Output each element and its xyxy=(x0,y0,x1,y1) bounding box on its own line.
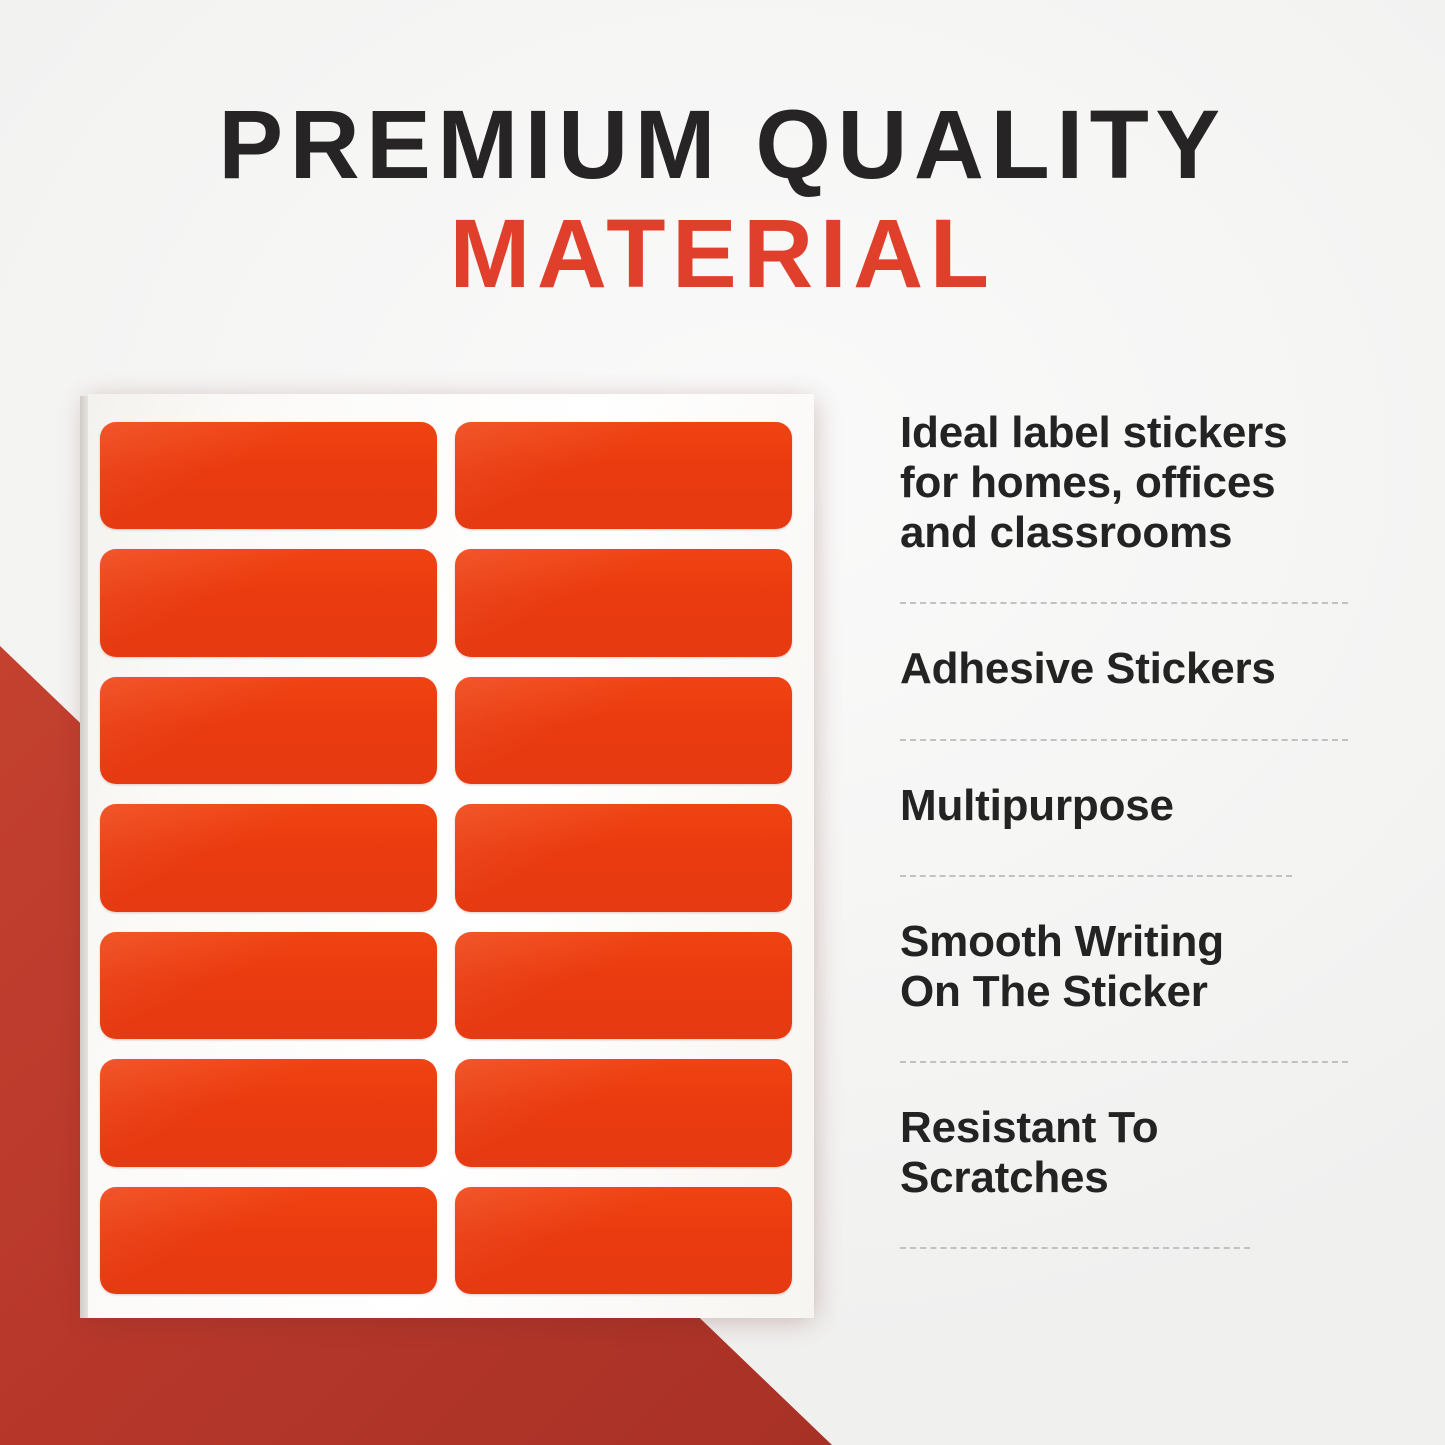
feature-label: Resistant To Scratches xyxy=(900,1103,1352,1203)
sticker-label xyxy=(100,549,437,656)
spacer xyxy=(900,1203,1352,1247)
sticker-label xyxy=(100,804,437,911)
sticker-label xyxy=(455,677,792,784)
feature-divider-4 xyxy=(900,1061,1348,1063)
feature-label: Multipurpose xyxy=(900,781,1352,831)
product-image-sticker-sheet xyxy=(80,394,814,1320)
feature-item-5: Resistant To Scratches xyxy=(900,1103,1352,1203)
sticker-label xyxy=(455,549,792,656)
spacer xyxy=(900,741,1352,781)
title-line-primary: PREMIUM QUALITY xyxy=(0,96,1445,193)
sticker-label xyxy=(100,1187,437,1294)
spacer xyxy=(900,695,1352,739)
feature-divider-2 xyxy=(900,739,1348,741)
sticker-label xyxy=(455,422,792,529)
spacer xyxy=(900,1063,1352,1103)
sticker-label xyxy=(100,422,437,529)
spacer xyxy=(900,558,1352,602)
infographic-canvas: PREMIUM QUALITY MATERIAL Ideal label sti… xyxy=(0,0,1445,1445)
page-title: PREMIUM QUALITY MATERIAL xyxy=(0,96,1445,302)
sticker-label xyxy=(455,1187,792,1294)
feature-item-1: Ideal label stickers for homes, offices … xyxy=(900,408,1352,558)
title-line-accent: MATERIAL xyxy=(0,205,1445,302)
feature-divider-1 xyxy=(900,602,1348,604)
sticker-label xyxy=(100,932,437,1039)
sticker-label xyxy=(455,932,792,1039)
sticker-label xyxy=(100,1059,437,1166)
feature-item-2: Adhesive Stickers xyxy=(900,644,1352,694)
feature-label: Ideal label stickers for homes, offices … xyxy=(900,408,1352,558)
feature-item-3: Multipurpose xyxy=(900,781,1352,831)
spacer xyxy=(900,604,1352,644)
feature-divider-3 xyxy=(900,875,1292,877)
sticker-sheet xyxy=(88,394,814,1318)
feature-divider-5 xyxy=(900,1247,1250,1249)
spacer xyxy=(900,831,1352,875)
feature-item-4: Smooth Writing On The Sticker xyxy=(900,917,1352,1017)
feature-list: Ideal label stickers for homes, offices … xyxy=(900,408,1352,1249)
sticker-label xyxy=(100,677,437,784)
sticker-label xyxy=(455,804,792,911)
feature-label: Smooth Writing On The Sticker xyxy=(900,917,1352,1017)
spacer xyxy=(900,1017,1352,1061)
sticker-label xyxy=(455,1059,792,1166)
spacer xyxy=(900,877,1352,917)
feature-label: Adhesive Stickers xyxy=(900,644,1352,694)
